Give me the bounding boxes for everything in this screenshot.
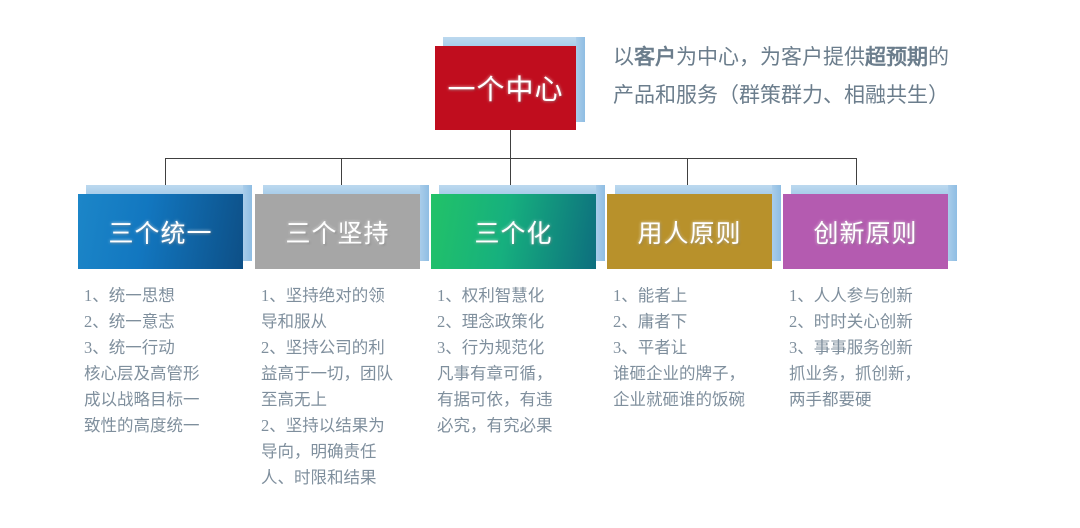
desc-bold-beyond-expectation: 超预期 [865,45,928,69]
desc-post: 的 [928,45,949,69]
column-header-2[interactable]: 三个化 [431,185,605,269]
column-header-0-right-face [243,185,252,261]
center-node[interactable]: 一个中心 [435,37,585,130]
center-node-top-face [443,37,585,46]
column-header-0-top-face [86,185,252,194]
connector-drop-4 [856,158,857,185]
column-header-2-front: 三个化 [431,194,596,269]
center-description: 以客户为中心，为客户提供超预期的 产品和服务（群策群力、相融共生） [613,38,1013,114]
connector-drop-2 [510,158,511,185]
desc-bold-customer: 客户 [634,45,676,69]
column-header-1-label: 三个坚持 [285,214,389,250]
desc-pre: 以 [613,45,634,69]
column-header-2-top-face [439,185,605,194]
column-body-0: 1、统一思想 2、统一意志 3、统一行动 核心层及高管形 成以战略目标一 致性的… [84,283,256,439]
column-header-4-top-face [791,185,957,194]
column-header-1[interactable]: 三个坚持 [255,185,429,269]
column-header-2-right-face [596,185,605,261]
column-header-1-right-face [420,185,429,261]
connector-stem [510,130,511,158]
desc-mid: 为中心，为客户提供 [676,45,865,69]
column-header-0-label: 三个统一 [108,214,212,250]
connector-drop-0 [165,158,166,185]
column-body-3: 1、能者上 2、庸者下 3、平者让 谁砸企业的牌子， 企业就砸谁的饭碗 [613,283,785,413]
column-header-2-label: 三个化 [474,214,552,250]
center-description-line1: 以客户为中心，为客户提供超预期的 [613,45,949,69]
column-body-1: 1、坚持绝对的领 导和服从 2、坚持公司的利 益高于一切，团队 至高无上 2、坚… [261,283,433,491]
column-header-4-right-face [948,185,957,261]
column-header-4-front: 创新原则 [783,194,948,269]
column-header-3-top-face [615,185,781,194]
column-header-0-front: 三个统一 [78,194,243,269]
column-header-3-right-face [772,185,781,261]
column-header-4-label: 创新原则 [813,214,917,250]
column-header-3-front: 用人原则 [607,194,772,269]
center-node-front: 一个中心 [435,46,576,130]
column-header-0[interactable]: 三个统一 [78,185,252,269]
column-header-4[interactable]: 创新原则 [783,185,957,269]
connector-drop-3 [687,158,688,185]
column-body-4: 1、人人参与创新 2、时时关心创新 3、事事服务创新 抓业务，抓创新， 两手都要… [789,283,961,413]
column-header-1-top-face [263,185,429,194]
column-header-3[interactable]: 用人原则 [607,185,781,269]
center-node-right-face [576,37,585,122]
column-header-3-label: 用人原则 [637,214,741,250]
column-body-2: 1、权利智慧化 2、理念政策化 3、行为规范化 凡事有章可循， 有据可依，有违 … [437,283,609,439]
diagram-canvas: 一个中心 以客户为中心，为客户提供超预期的 产品和服务（群策群力、相融共生） 三… [0,0,1080,528]
connector-drop-1 [341,158,342,185]
column-header-1-front: 三个坚持 [255,194,420,269]
center-description-line2: 产品和服务（群策群力、相融共生） [613,83,949,107]
center-node-label: 一个中心 [447,68,563,108]
